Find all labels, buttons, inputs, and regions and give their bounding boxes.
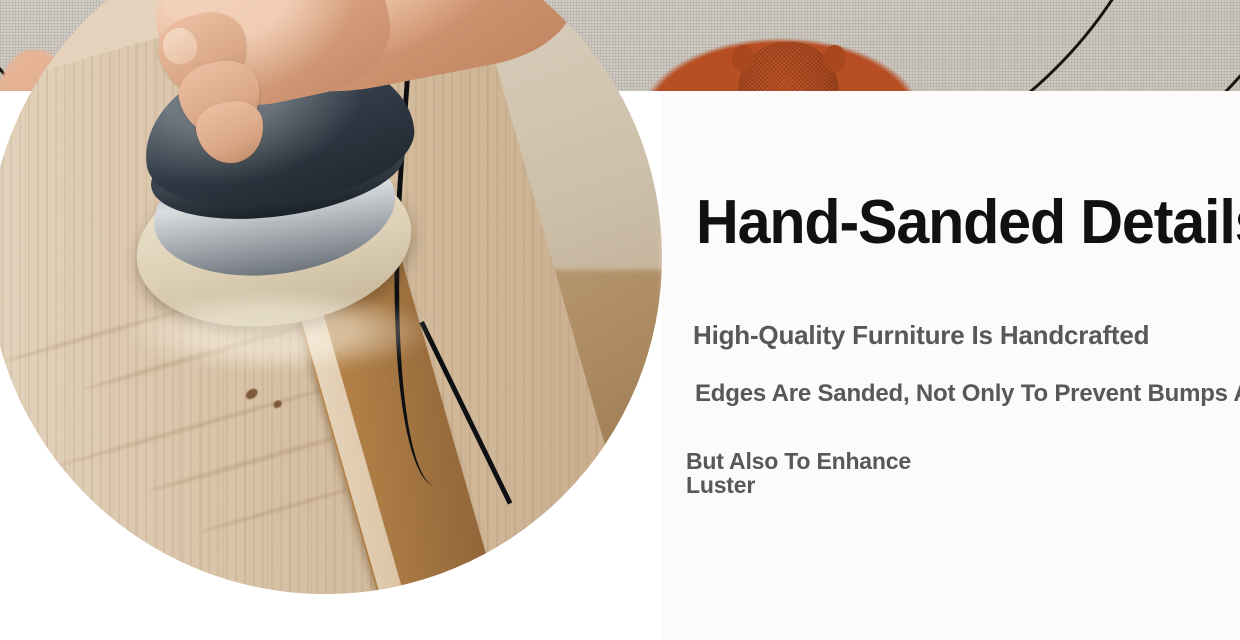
body-line-2: Edges Are Sanded, Not Only To Prevent Bu… [695,380,1240,408]
body-line-1: High-Quality Furniture Is Handcrafted [693,320,1149,350]
circular-hero-photo [0,0,662,594]
body-line-3: But Also To Enhance Luster [686,449,916,497]
page-stage: Hand-Sanded Details High-Quality Furnitu… [0,0,1240,640]
sanding-dust [123,291,433,372]
content-panel: Hand-Sanded Details High-Quality Furnitu… [662,91,1240,640]
page-title: Hand-Sanded Details [696,192,1240,254]
hero-photo-inner [0,0,662,594]
